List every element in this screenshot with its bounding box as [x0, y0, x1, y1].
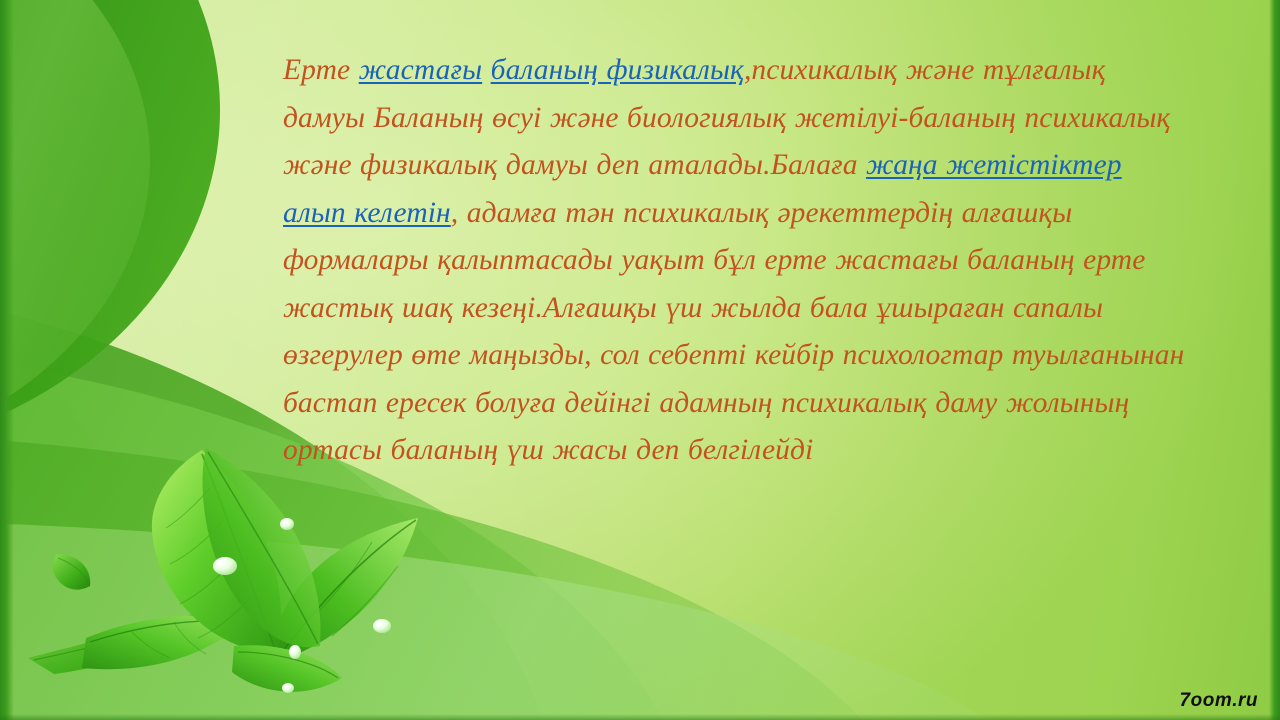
slide-body-text: Ерте жастағы баланың физикалық,психикалы…: [283, 47, 1188, 475]
text-run-space: [482, 54, 490, 86]
text-run-1: Ерте: [283, 54, 359, 86]
hyperlink-balanyn-fizikalyq[interactable]: баланың физикалық: [491, 54, 744, 86]
text-run-3: , адамға тән психикалық әрекеттердің алғ…: [283, 197, 1184, 467]
body-paragraph: Ерте жастағы баланың физикалық,психикалы…: [283, 47, 1188, 475]
slide-edge-left: [0, 0, 14, 720]
slide-edge-right: [1269, 0, 1280, 720]
watermark-label: 7oom.ru: [1180, 690, 1258, 712]
presentation-slide: Ерте жастағы баланың физикалық,психикалы…: [0, 0, 1280, 720]
hyperlink-zhastagy[interactable]: жастағы: [359, 54, 483, 86]
